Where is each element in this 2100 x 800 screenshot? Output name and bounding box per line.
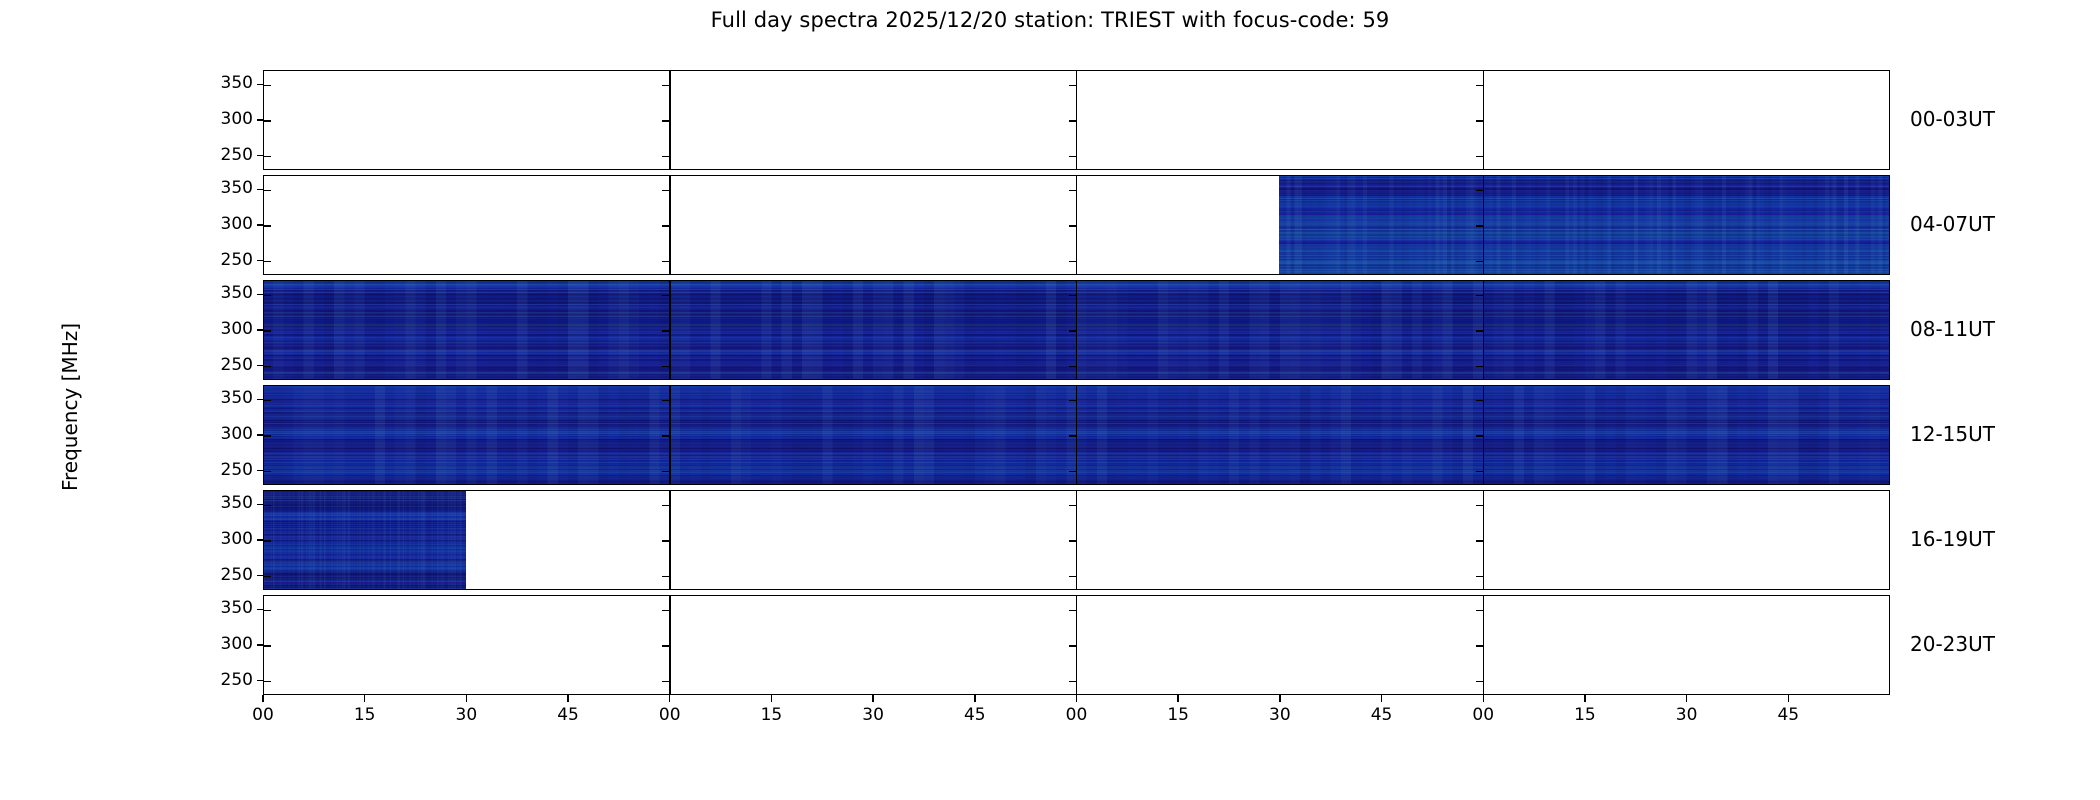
panel-divider	[1483, 596, 1484, 694]
y-tick-label: 250	[205, 565, 253, 585]
row-label: 12-15UT	[1910, 422, 2100, 446]
y-tick-mark	[1476, 645, 1483, 646]
y-tick-mark	[264, 225, 271, 226]
y-tick-mark	[264, 610, 271, 611]
panel-divider	[669, 596, 670, 694]
y-tick-label: 250	[205, 670, 253, 690]
y-tick-mark	[1476, 435, 1483, 436]
y-tick-label: 300	[205, 424, 253, 444]
y-tick-mark	[1476, 190, 1483, 191]
y-tick-mark	[257, 575, 264, 576]
x-tick-label: 00	[243, 705, 283, 725]
x-tick-label: 15	[345, 705, 385, 725]
y-tick-mark	[662, 330, 669, 331]
y-tick-mark	[264, 435, 271, 436]
y-tick-mark	[264, 295, 271, 296]
x-tick-label: 00	[650, 705, 690, 725]
x-tick-label: 30	[1667, 705, 1707, 725]
y-tick-mark	[1069, 610, 1076, 611]
y-tick-mark	[1476, 225, 1483, 226]
y-tick-mark	[662, 610, 669, 611]
y-tick-mark	[257, 470, 264, 471]
y-tick-mark	[264, 681, 271, 682]
row-label: 08-11UT	[1910, 317, 2100, 341]
x-tick-label: 45	[1362, 705, 1402, 725]
y-tick-mark	[662, 85, 669, 86]
x-tick-label: 15	[1158, 705, 1198, 725]
y-tick-mark	[257, 119, 264, 120]
x-tick-mark	[771, 695, 772, 702]
spectrogram-panel	[263, 175, 1890, 275]
y-tick-mark	[257, 434, 264, 435]
y-tick-label: 300	[205, 109, 253, 129]
y-tick-mark	[1069, 295, 1076, 296]
y-tick-mark	[1069, 120, 1076, 121]
spectrogram-panel	[263, 595, 1890, 695]
y-tick-label: 350	[205, 493, 253, 513]
y-tick-mark	[264, 576, 271, 577]
panel-divider	[1483, 71, 1484, 169]
y-tick-mark	[257, 224, 264, 225]
y-tick-mark	[264, 261, 271, 262]
x-tick-mark	[567, 695, 568, 702]
x-tick-mark	[1177, 695, 1178, 702]
y-tick-mark	[662, 576, 669, 577]
y-tick-mark	[1069, 366, 1076, 367]
y-tick-mark	[264, 540, 271, 541]
y-tick-label: 300	[205, 634, 253, 654]
y-tick-label: 300	[205, 529, 253, 549]
y-tick-mark	[264, 505, 271, 506]
x-tick-label: 00	[1057, 705, 1097, 725]
x-tick-mark	[1686, 695, 1687, 702]
panel-divider	[669, 386, 670, 484]
x-tick-mark	[669, 695, 670, 702]
x-tick-mark	[364, 695, 365, 702]
y-tick-label: 250	[205, 355, 253, 375]
y-tick-mark	[257, 644, 264, 645]
y-tick-mark	[1476, 681, 1483, 682]
x-tick-mark	[1788, 695, 1789, 702]
y-tick-mark	[1069, 85, 1076, 86]
y-tick-mark	[1476, 120, 1483, 121]
y-tick-mark	[1069, 576, 1076, 577]
panel-divider	[669, 491, 670, 589]
x-tick-mark	[466, 695, 467, 702]
y-tick-mark	[264, 330, 271, 331]
y-tick-mark	[1476, 366, 1483, 367]
y-tick-mark	[1476, 85, 1483, 86]
x-tick-mark	[974, 695, 975, 702]
y-tick-mark	[264, 400, 271, 401]
panel-divider	[1483, 281, 1484, 379]
x-tick-label: 30	[1260, 705, 1300, 725]
y-tick-label: 300	[205, 214, 253, 234]
y-tick-mark	[1476, 156, 1483, 157]
spectrogram-panel	[263, 385, 1890, 485]
y-tick-mark	[257, 155, 264, 156]
y-tick-mark	[1069, 400, 1076, 401]
row-label: 20-23UT	[1910, 632, 2100, 656]
panel-divider	[669, 281, 670, 379]
x-tick-mark	[1381, 695, 1382, 702]
x-tick-label: 15	[1565, 705, 1605, 725]
y-tick-label: 350	[205, 283, 253, 303]
y-tick-mark	[257, 539, 264, 540]
panel-divider	[1076, 281, 1077, 379]
y-tick-mark	[1476, 610, 1483, 611]
y-tick-mark	[257, 399, 264, 400]
x-tick-label: 45	[955, 705, 995, 725]
y-tick-mark	[662, 400, 669, 401]
y-tick-label: 350	[205, 388, 253, 408]
y-tick-mark	[1069, 261, 1076, 262]
y-tick-mark	[1476, 295, 1483, 296]
panel-divider	[1483, 386, 1484, 484]
row-label: 00-03UT	[1910, 107, 2100, 131]
y-tick-mark	[662, 120, 669, 121]
y-tick-mark	[257, 680, 264, 681]
spectrogram-figure: Full day spectra 2025/12/20 station: TRI…	[0, 0, 2100, 800]
panel-divider	[1076, 596, 1077, 694]
y-tick-mark	[264, 471, 271, 472]
y-tick-mark	[1069, 330, 1076, 331]
y-tick-mark	[257, 609, 264, 610]
x-tick-mark	[262, 695, 263, 702]
y-tick-mark	[1476, 540, 1483, 541]
panel-divider	[1076, 386, 1077, 484]
y-tick-mark	[662, 471, 669, 472]
y-tick-mark	[1069, 156, 1076, 157]
y-tick-mark	[662, 505, 669, 506]
y-tick-mark	[1476, 505, 1483, 506]
y-tick-label: 350	[205, 73, 253, 93]
y-tick-label: 250	[205, 460, 253, 480]
spectrogram-panel	[263, 280, 1890, 380]
panel-divider	[1076, 491, 1077, 589]
y-tick-mark	[662, 225, 669, 226]
x-tick-label: 30	[446, 705, 486, 725]
x-tick-mark	[1279, 695, 1280, 702]
y-tick-mark	[257, 189, 264, 190]
y-tick-mark	[662, 261, 669, 262]
spectrogram-panel	[263, 490, 1890, 590]
y-tick-mark	[1476, 471, 1483, 472]
y-tick-mark	[264, 85, 271, 86]
row-label: 16-19UT	[1910, 527, 2100, 551]
y-tick-label: 350	[205, 598, 253, 618]
y-tick-mark	[662, 540, 669, 541]
y-tick-mark	[257, 294, 264, 295]
page-title: Full day spectra 2025/12/20 station: TRI…	[0, 8, 2100, 32]
y-tick-mark	[1476, 576, 1483, 577]
y-tick-mark	[257, 504, 264, 505]
y-tick-mark	[257, 365, 264, 366]
panel-divider	[1483, 491, 1484, 589]
y-tick-mark	[1069, 471, 1076, 472]
y-tick-mark	[264, 645, 271, 646]
y-tick-mark	[662, 645, 669, 646]
y-tick-mark	[257, 260, 264, 261]
panel-divider	[1483, 176, 1484, 274]
y-tick-mark	[1476, 330, 1483, 331]
x-tick-label: 30	[853, 705, 893, 725]
x-tick-label: 45	[548, 705, 588, 725]
y-tick-mark	[1069, 645, 1076, 646]
x-tick-mark	[1483, 695, 1484, 702]
y-tick-mark	[662, 366, 669, 367]
y-tick-mark	[264, 156, 271, 157]
x-tick-mark	[872, 695, 873, 702]
x-tick-label: 15	[751, 705, 791, 725]
y-tick-mark	[1069, 225, 1076, 226]
y-tick-mark	[1476, 261, 1483, 262]
y-tick-mark	[1069, 505, 1076, 506]
panel-divider	[1076, 71, 1077, 169]
y-tick-label: 250	[205, 145, 253, 165]
row-label: 04-07UT	[1910, 212, 2100, 236]
y-tick-mark	[1069, 190, 1076, 191]
y-tick-mark	[257, 84, 264, 85]
y-tick-mark	[662, 190, 669, 191]
x-tick-mark	[1584, 695, 1585, 702]
y-tick-mark	[662, 295, 669, 296]
y-tick-label: 300	[205, 319, 253, 339]
x-tick-label: 45	[1768, 705, 1808, 725]
y-axis-label: Frequency [MHz]	[58, 277, 82, 537]
panel-divider	[1076, 176, 1077, 274]
y-tick-label: 250	[205, 250, 253, 270]
panel-divider	[669, 71, 670, 169]
spectrogram-panel	[263, 70, 1890, 170]
panel-divider	[669, 176, 670, 274]
y-tick-mark	[257, 329, 264, 330]
y-tick-mark	[264, 366, 271, 367]
y-tick-mark	[662, 156, 669, 157]
x-tick-label: 00	[1463, 705, 1503, 725]
x-tick-mark	[1076, 695, 1077, 702]
y-tick-mark	[264, 190, 271, 191]
y-tick-mark	[662, 681, 669, 682]
y-tick-label: 350	[205, 178, 253, 198]
y-tick-mark	[1069, 681, 1076, 682]
y-tick-mark	[1069, 540, 1076, 541]
y-tick-mark	[662, 435, 669, 436]
y-tick-mark	[1069, 435, 1076, 436]
y-tick-mark	[1476, 400, 1483, 401]
y-tick-mark	[264, 120, 271, 121]
